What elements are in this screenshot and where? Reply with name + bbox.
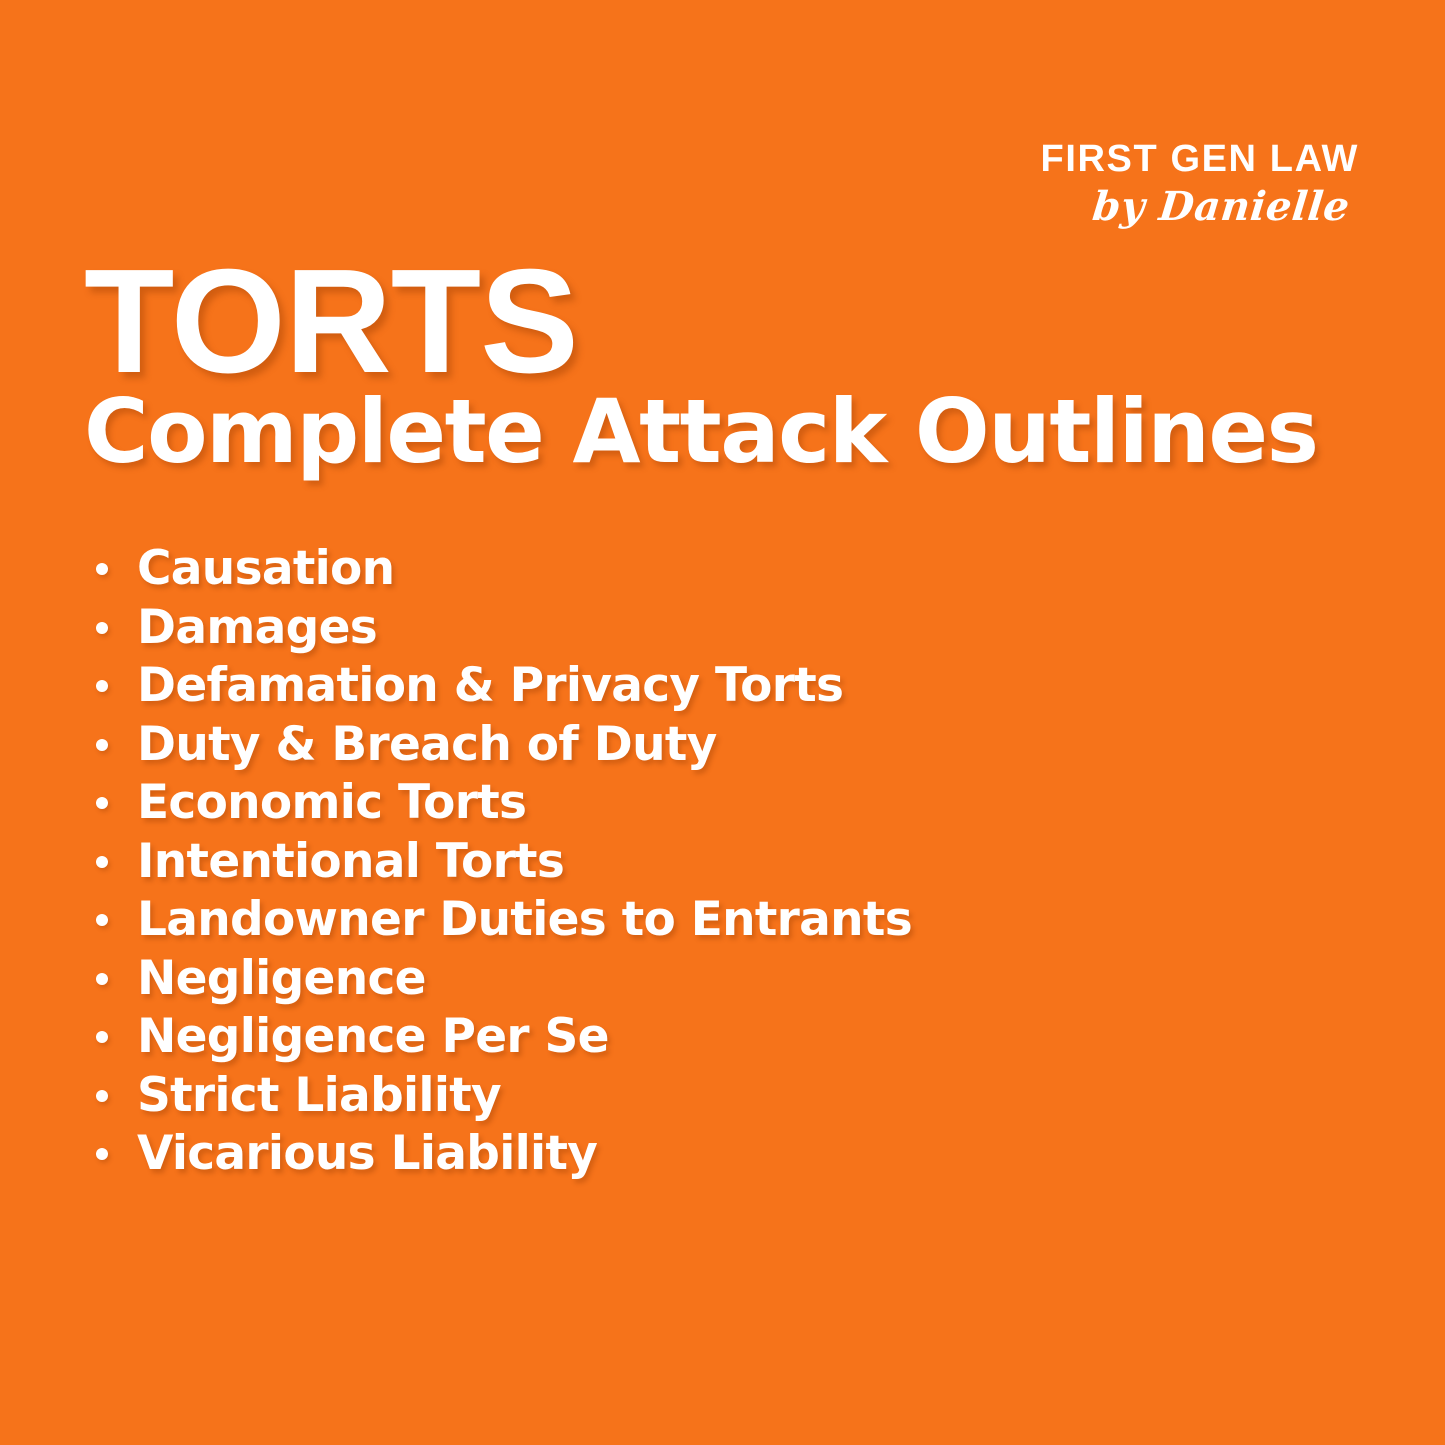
list-item-label: Negligence Per Se [137,1009,609,1064]
bullet-dot-icon [96,1148,108,1160]
bullet-dot-icon [96,1090,108,1102]
list-item-label: Negligence [137,951,426,1006]
title-block: TORTS Complete Attack Outlines [84,248,1385,479]
list-item: Duty & Breach of Duty [84,716,1385,775]
list-item-label: Vicarious Liability [137,1126,597,1181]
page-subtitle: Complete Attack Outlines [84,384,1385,479]
bullet-dot-icon [96,856,108,868]
list-item-label: Defamation & Privacy Torts [137,658,843,713]
bullet-dot-icon [96,563,108,575]
list-item-label: Economic Torts [137,775,526,830]
bullet-dot-icon [96,797,108,809]
list-item-label: Intentional Torts [137,834,564,889]
list-item: Damages [84,599,1385,658]
brand-byline: by Danielle [1038,187,1351,227]
list-item-label: Damages [137,600,377,655]
list-item: Strict Liability [84,1067,1385,1126]
list-item-label: Strict Liability [137,1068,501,1123]
bullet-dot-icon [96,680,108,692]
bullet-dot-icon [96,973,108,985]
list-item: Vicarious Liability [84,1125,1385,1184]
brand-logo: FIRST GEN LAW by Danielle [1041,140,1359,227]
list-item: Negligence [84,950,1385,1009]
bullet-dot-icon [96,622,108,634]
list-item-label: Landowner Duties to Entrants [137,892,912,947]
bullet-dot-icon [96,914,108,926]
list-item: Landowner Duties to Entrants [84,891,1385,950]
list-item: Defamation & Privacy Torts [84,657,1385,716]
bullet-dot-icon [96,1031,108,1043]
list-item: Negligence Per Se [84,1008,1385,1067]
brand-name: FIRST GEN LAW [1041,140,1359,178]
poster-canvas: FIRST GEN LAW by Danielle TORTS Complete… [0,0,1445,1445]
list-item: Causation [84,540,1385,599]
list-item: Economic Torts [84,774,1385,833]
list-item: Intentional Torts [84,833,1385,892]
list-item-label: Causation [137,541,394,596]
list-item-label: Duty & Breach of Duty [137,717,717,772]
page-title: TORTS [84,248,1385,396]
outline-topic-list: Causation Damages Defamation & Privacy T… [84,540,1385,1184]
bullet-dot-icon [96,739,108,751]
